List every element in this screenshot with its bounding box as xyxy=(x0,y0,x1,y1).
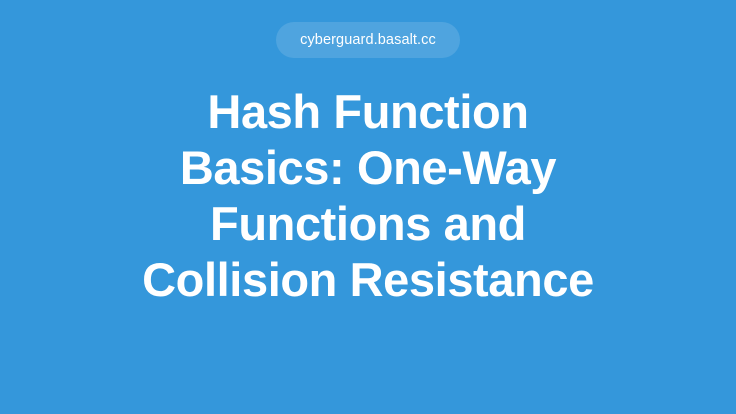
title-line: Hash Function xyxy=(207,84,528,140)
page-title: Hash Function Basics: One-Way Functions … xyxy=(133,84,603,308)
title-line: Collision Resistance xyxy=(142,252,594,308)
domain-badge-label: cyberguard.basalt.cc xyxy=(300,33,436,48)
social-share-card: cyberguard.basalt.cc Hash Function Basic… xyxy=(0,0,736,414)
title-line: Basics: One-Way xyxy=(180,140,556,196)
domain-badge: cyberguard.basalt.cc xyxy=(276,22,460,58)
title-line: Functions and xyxy=(210,196,526,252)
